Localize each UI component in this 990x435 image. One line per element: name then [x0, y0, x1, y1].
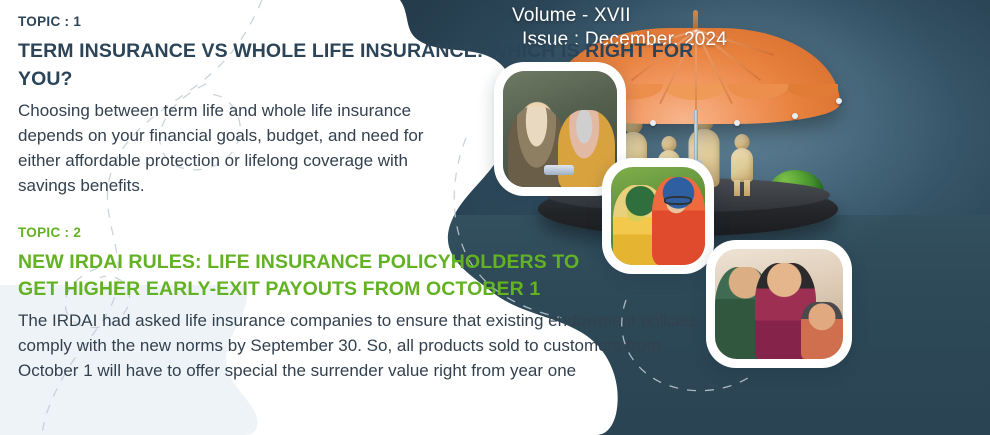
elderly-couple-photo-image	[503, 71, 617, 187]
mobile-phone-icon	[544, 165, 574, 175]
young-family-photo-image	[715, 249, 843, 359]
topic-2-headline: NEW IRDAI RULES: LIFE INSURANCE POLICYHO…	[18, 249, 618, 303]
family-child-figure	[801, 302, 843, 359]
young-family-photo	[706, 240, 852, 368]
topic-1-kicker: TOPIC : 1	[18, 14, 708, 29]
topic-2-body: The IRDAI had asked life insurance compa…	[18, 309, 708, 384]
figure-child-right	[730, 134, 754, 196]
topic-1-body: Choosing between term life and whole lif…	[18, 99, 448, 199]
eyeglasses-icon	[664, 196, 692, 205]
newsletter-page: Volume - XVII Issue : December. 2024 TOP…	[0, 0, 990, 435]
holi-children-photo-image	[611, 167, 705, 265]
holi-children-photo	[602, 158, 714, 274]
